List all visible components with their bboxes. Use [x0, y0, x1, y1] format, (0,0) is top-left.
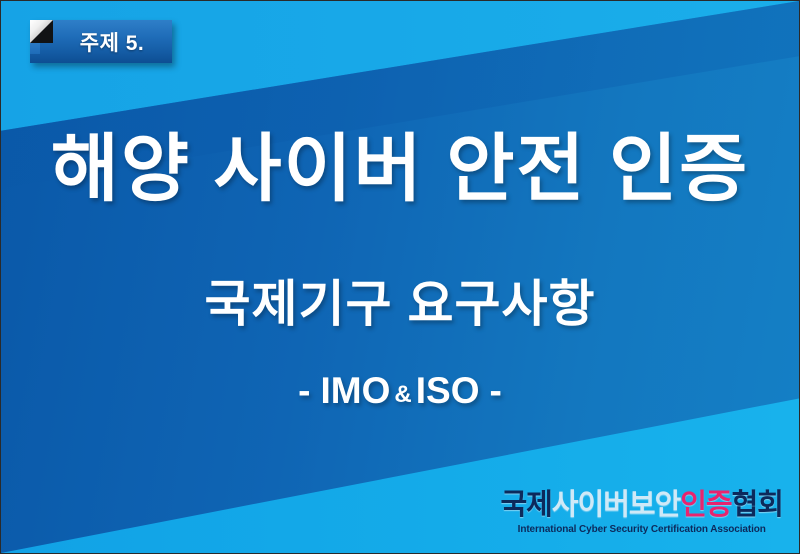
page-subtitle: 국제기구 요구사항	[1, 279, 799, 329]
logo-kr-segment-3: 인증	[680, 489, 731, 521]
organization-logo: 국제사이버보안인증협회 International Cyber Security…	[500, 491, 783, 535]
standard-iso: ISO	[416, 370, 480, 411]
topic-badge-label: 주제 5.	[30, 20, 168, 63]
presentation-slide: 주제 5. 해양 사이버 안전 인증 국제기구 요구사항 -IMO&ISO- 국…	[0, 0, 800, 554]
page-title: 해양 사이버 안전 인증	[1, 132, 799, 206]
logo-korean-name: 국제사이버보안인증협회	[500, 491, 783, 520]
logo-kr-segment-4: 협회	[732, 489, 783, 521]
logo-english-name: International Cyber Security Certificati…	[500, 525, 783, 535]
standards-ampersand: &	[390, 381, 415, 408]
logo-kr-segment-1: 국제	[500, 489, 551, 521]
standards-line: -IMO&ISO-	[1, 372, 799, 409]
logo-kr-segment-2: 사이버보안	[552, 489, 680, 521]
standard-imo: IMO	[321, 370, 391, 411]
standards-trail-dash: -	[479, 370, 511, 411]
standards-lead-dash: -	[288, 370, 320, 411]
topic-badge: 주제 5.	[30, 20, 172, 63]
